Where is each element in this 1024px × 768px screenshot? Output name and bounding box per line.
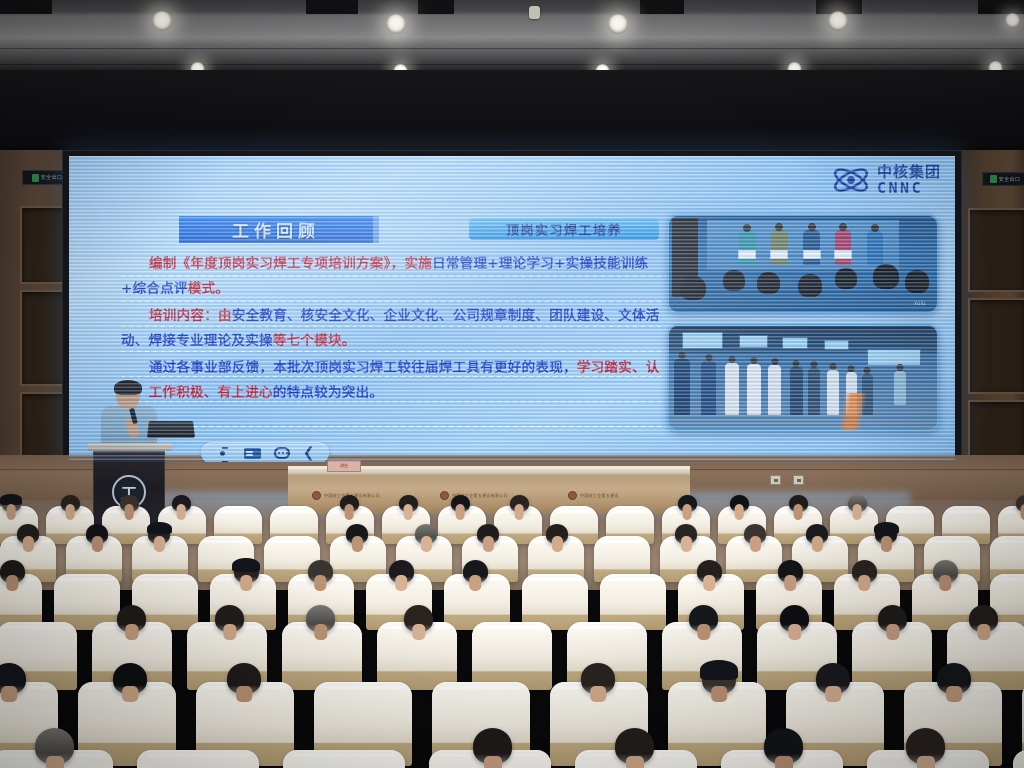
text-run: 通过各事业部反馈，本批次顶岗实习焊工较往届焊工具有更好的表现，: [149, 360, 577, 376]
auditorium-scene: 安全出口 安全出口: [0, 0, 1024, 768]
audience-shoulders: [917, 756, 935, 768]
audience-member: [148, 524, 170, 544]
baseball-cap: [700, 660, 738, 679]
audience-seating: [0, 500, 1024, 768]
audience-shoulders: [681, 536, 691, 552]
audience-member: [113, 663, 147, 694]
audience-member: [744, 524, 766, 544]
ceiling-light: [152, 11, 172, 31]
audience-member: [806, 524, 828, 544]
audience-member: [816, 663, 850, 694]
audience-shoulders: [825, 686, 841, 702]
audience-shoulders: [812, 536, 822, 552]
audience-shoulders: [345, 504, 354, 520]
slide-title-left: 工作回顾: [179, 216, 379, 243]
audience-member: [933, 560, 958, 583]
back-chevron-icon[interactable]: ❮: [303, 447, 315, 460]
text-run: 等七个模块。: [273, 333, 356, 349]
audience-member: [0, 560, 25, 583]
audience-member: [969, 605, 998, 632]
audience-shoulders: [1, 686, 17, 702]
audience-shoulders: [626, 756, 644, 768]
audience-member: [702, 663, 736, 694]
audience-chair: [1013, 750, 1024, 768]
exit-sign-label: 安全出口: [41, 174, 63, 181]
audience-shoulders: [788, 624, 801, 640]
audience-member: [415, 524, 437, 544]
baseball-cap: [232, 558, 260, 572]
audience-member: [306, 605, 335, 632]
audience-shoulders: [23, 536, 33, 552]
wall-outlet: [793, 475, 804, 485]
audience-shoulders: [66, 504, 75, 520]
audience-shoulders: [794, 504, 803, 520]
audience-member: [227, 663, 261, 694]
audience-shoulders: [946, 686, 962, 702]
audience-shoulders: [590, 686, 606, 702]
led-screen: 中核集团 CNNC 工作回顾 顶岗实习焊工培养 编制《年度顶岗实习焊工专项培训方…: [69, 156, 955, 462]
audience-shoulders: [92, 536, 102, 552]
audience-shoulders: [122, 686, 138, 702]
audience-member: [848, 495, 867, 512]
audience-member: [463, 560, 488, 583]
laptop: [147, 421, 195, 438]
audience-member: [346, 524, 368, 544]
photo-workshop-lineup: [667, 324, 939, 432]
audience-shoulders: [886, 624, 899, 640]
card-icon[interactable]: [244, 448, 261, 459]
audience-shoulders: [46, 756, 64, 768]
audience-chair: [137, 750, 259, 768]
audience-member: [215, 605, 244, 632]
baseball-cap: [147, 522, 172, 534]
audience-shoulders: [395, 575, 407, 591]
slide-paragraph: 通过各事业部反馈，本批次顶岗实习焊工较往届焊工具有更好的表现，学习踏实、认真、工…: [121, 356, 666, 406]
audience-chair: [283, 750, 405, 768]
upper-wall: [0, 70, 1024, 154]
more-options-icon[interactable]: [274, 447, 290, 459]
audience-member: [473, 728, 512, 764]
audience-member: [308, 560, 333, 583]
audience-shoulders: [421, 536, 431, 552]
audience-member: [61, 495, 80, 512]
audience-member: [780, 605, 809, 632]
text-run: 培训内容：由: [149, 308, 232, 324]
audience-member: [510, 495, 529, 512]
audience-shoulders: [881, 536, 891, 552]
audience-shoulders: [314, 575, 326, 591]
text-run: 的特点较为突出。: [273, 385, 383, 401]
audience-shoulders: [939, 575, 951, 591]
text-run: 模式。: [188, 281, 229, 297]
audience-member: [234, 560, 259, 583]
audience-shoulders: [683, 504, 692, 520]
audience-member: [172, 495, 191, 512]
audience-member: [764, 728, 803, 764]
focus-frame-icon[interactable]: [215, 447, 231, 460]
audience-shoulders: [314, 624, 327, 640]
cnnc-atom-icon: [831, 165, 871, 195]
led-display-wall: 中核集团 CNNC 工作回顾 顶岗实习焊工培养 编制《年度顶岗实习焊工专项培训方…: [62, 150, 962, 468]
audience-shoulders: [352, 536, 362, 552]
audience-shoulders: [154, 536, 164, 552]
slide-title-right-label: 顶岗实习焊工培养: [506, 220, 622, 239]
audience-shoulders: [735, 504, 744, 520]
audience-shoulders: [404, 504, 413, 520]
audience-member: [117, 605, 146, 632]
audience-member: [937, 663, 971, 694]
audience-member: [35, 728, 74, 764]
table-name-card: 讲台: [327, 460, 361, 472]
audience-shoulders: [484, 756, 502, 768]
ceiling: [0, 0, 1024, 72]
audience-shoulders: [703, 575, 715, 591]
audience-shoulders: [775, 756, 793, 768]
audience-shoulders: [977, 624, 990, 640]
audience-member: [675, 524, 697, 544]
audience-shoulders: [784, 575, 796, 591]
slide-title-left-label: 工作回顾: [232, 217, 320, 242]
audience-shoulders: [177, 504, 186, 520]
audience-shoulders: [552, 536, 562, 552]
audience-member: [697, 560, 722, 583]
slide-paragraph: 编制《年度顶岗实习焊工专项培训方案》，实施日常管理+理论学习+实操技能训练+综合…: [121, 252, 666, 302]
audience-member: [581, 663, 615, 694]
exit-sign-label: 安全出口: [999, 176, 1021, 183]
audience-shoulders: [750, 536, 760, 552]
audience-shoulders: [697, 624, 710, 640]
audience-member: [906, 728, 945, 764]
audience-shoulders: [853, 504, 862, 520]
slide-paragraph: 培训内容：由安全教育、核安全文化、企业文化、公司规章制度、团队建设、文体活动、焊…: [121, 304, 666, 354]
audience-member: [878, 605, 907, 632]
baseball-cap: [874, 522, 899, 534]
slide-title-right: 顶岗实习焊工培养: [469, 218, 659, 240]
audience-shoulders: [236, 686, 252, 702]
audience-chair: [472, 622, 552, 690]
photo-award-ceremony: XGSL: [667, 214, 939, 314]
audience-shoulders: [711, 686, 727, 702]
audience-member: [852, 560, 877, 583]
audience-member: [404, 605, 433, 632]
audience-shoulders: [456, 504, 465, 520]
audience-member: [86, 524, 108, 544]
cnnc-name-en: CNNC: [877, 181, 941, 196]
audience-member: [340, 495, 359, 512]
audience-member: [789, 495, 808, 512]
audience-shoulders: [7, 504, 16, 520]
audience-member: [689, 605, 718, 632]
audience-shoulders: [6, 575, 18, 591]
audience-shoulders: [1021, 504, 1024, 520]
audience-shoulders: [125, 624, 138, 640]
audience-member: [546, 524, 568, 544]
audience-shoulders: [125, 504, 134, 520]
floating-toolbar[interactable]: ❮: [201, 442, 329, 462]
audience-member: [678, 495, 697, 512]
audience-member: [615, 728, 654, 764]
ceiling-light: [1005, 13, 1020, 28]
audience-member: [778, 560, 803, 583]
audience-shoulders: [412, 624, 425, 640]
audience-member: [389, 560, 414, 583]
audience-member: [120, 495, 139, 512]
audience-member: [730, 495, 749, 512]
audience-member: [399, 495, 418, 512]
audience-shoulders: [483, 536, 493, 552]
audience-member: [875, 524, 897, 544]
audience-member: [17, 524, 39, 544]
audience-shoulders: [223, 624, 236, 640]
audience-shoulders: [469, 575, 481, 591]
smoke-detector-icon: [529, 6, 540, 19]
audience-member: [2, 495, 21, 512]
ceiling-light: [608, 14, 628, 34]
presentation-slide: 中核集团 CNNC 工作回顾 顶岗实习焊工培养 编制《年度顶岗实习焊工专项培训方…: [69, 156, 955, 462]
audience-shoulders: [858, 575, 870, 591]
audience-shoulders: [515, 504, 524, 520]
exit-sign-right: 安全出口: [982, 172, 1024, 186]
audience-shoulders: [240, 575, 252, 591]
ceiling-light: [386, 14, 406, 34]
ceiling-light: [828, 11, 848, 31]
audience-member: [451, 495, 470, 512]
baseball-cap: [0, 494, 21, 505]
audience-member: [477, 524, 499, 544]
wall-outlet: [770, 475, 781, 485]
text-run: 编制《年度顶岗实习焊工专项培训方案》，实施: [149, 256, 432, 272]
cnnc-logo: 中核集团 CNNC: [831, 164, 941, 196]
